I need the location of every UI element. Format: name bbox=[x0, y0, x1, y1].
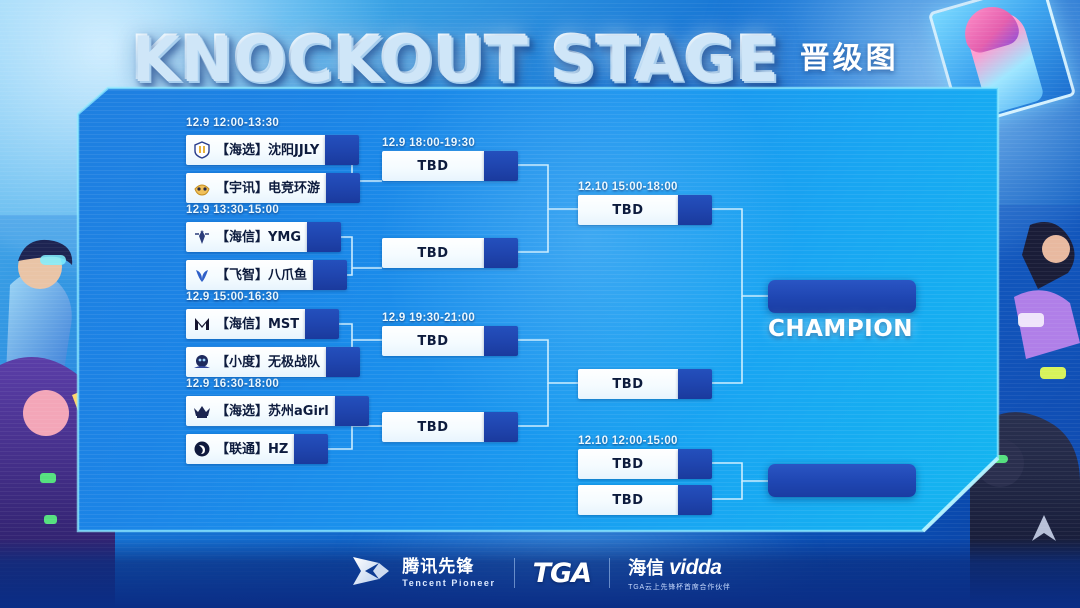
knockout-stage-poster: KNOCKOUT STAGE 晋级图 bbox=[0, 0, 1080, 608]
footer-divider bbox=[609, 558, 610, 588]
team-name: 【联通】HZ bbox=[216, 443, 288, 456]
match-slot-row[interactable]: TBD bbox=[578, 369, 712, 399]
team-name-cell: 【联通】HZ bbox=[186, 434, 294, 464]
team-name: 【海信】YMG bbox=[216, 231, 301, 244]
flydigi-v-icon bbox=[192, 265, 212, 285]
slot-name-cell: TBD bbox=[382, 412, 484, 442]
match-slot-row[interactable]: TBD bbox=[382, 238, 518, 268]
vidda-en: vidda bbox=[669, 556, 721, 580]
slot-name: TBD bbox=[417, 335, 448, 348]
bracket-connector-lines bbox=[0, 0, 1080, 608]
score-cell bbox=[325, 135, 359, 165]
score-cell bbox=[678, 449, 712, 479]
date-label-semifinal: 12.10 15:00-18:00 bbox=[578, 181, 678, 193]
score-cell bbox=[678, 369, 712, 399]
team-name: 【海选】苏州aGirl bbox=[216, 405, 329, 418]
mask-yuxun-icon bbox=[192, 178, 212, 198]
slot-name: TBD bbox=[417, 160, 448, 173]
score-cell bbox=[484, 412, 518, 442]
slot-name: TBD bbox=[612, 494, 643, 507]
slot-name-cell: TBD bbox=[578, 369, 678, 399]
vidda-cn: 海信 bbox=[628, 554, 664, 580]
agirl-crown-icon bbox=[192, 401, 212, 421]
team-row[interactable]: 【飞智】八爪鱼 bbox=[186, 260, 322, 290]
team-row[interactable]: 【小度】无极战队 bbox=[186, 347, 322, 377]
date-label-r1-m1: 12.9 12:00-13:30 bbox=[186, 117, 279, 129]
date-label-r1-m4: 12.9 16:30-18:00 bbox=[186, 378, 279, 390]
third-place-winner-block[interactable] bbox=[768, 464, 916, 497]
score-cell bbox=[326, 173, 360, 203]
slot-name: TBD bbox=[612, 204, 643, 217]
score-cell bbox=[678, 485, 712, 515]
team-name-cell: 【海选】沈阳JJLY bbox=[186, 135, 325, 165]
slot-name: TBD bbox=[417, 247, 448, 260]
tencent-pioneer-en: Tencent Pioneer bbox=[402, 578, 495, 588]
team-row[interactable]: 【海信】MST bbox=[186, 309, 322, 339]
ymg-icon: Y bbox=[192, 227, 212, 247]
score-cell bbox=[484, 326, 518, 356]
team-row[interactable]: 【联通】HZ bbox=[186, 434, 322, 464]
team-name: 【宇讯】电竞环游 bbox=[216, 182, 320, 195]
score-cell bbox=[484, 238, 518, 268]
footer-sponsors: 腾讯先锋 Tencent Pioneer TGA 海信 vidda TGA云上先… bbox=[0, 538, 1080, 608]
score-cell bbox=[307, 222, 341, 252]
team-name-cell: 【小度】无极战队 bbox=[186, 347, 326, 377]
date-label-r1-m3: 12.9 15:00-16:30 bbox=[186, 291, 279, 303]
score-cell bbox=[678, 195, 712, 225]
vidda-brand: 海信 vidda TGA云上先锋杯首席合作伙伴 bbox=[628, 554, 731, 592]
match-slot-row[interactable]: TBD bbox=[382, 151, 518, 181]
date-label-r2-m2: 12.9 19:30-21:00 bbox=[382, 312, 475, 324]
score-cell bbox=[294, 434, 328, 464]
team-name: 【小度】无极战队 bbox=[216, 356, 320, 369]
team-name-cell: Y 【海信】YMG bbox=[186, 222, 307, 252]
team-row[interactable]: 【宇讯】电竞环游 bbox=[186, 173, 322, 203]
team-row[interactable]: 【海选】沈阳JJLY bbox=[186, 135, 322, 165]
date-label-r2-m1: 12.9 18:00-19:30 bbox=[382, 137, 475, 149]
team-name-cell: 【宇讯】电竞环游 bbox=[186, 173, 326, 203]
champion-block[interactable] bbox=[768, 280, 916, 313]
tencent-pioneer-logo-icon bbox=[349, 553, 393, 594]
match-slot-row[interactable]: TBD bbox=[578, 449, 712, 479]
score-cell bbox=[305, 309, 339, 339]
tencent-pioneer-cn: 腾讯先锋 bbox=[402, 558, 495, 578]
match-slot-row[interactable]: TBD bbox=[578, 195, 712, 225]
team-name: 【飞智】八爪鱼 bbox=[216, 269, 307, 282]
team-name-cell: 【飞智】八爪鱼 bbox=[186, 260, 313, 290]
match-slot-row[interactable]: TBD bbox=[382, 326, 518, 356]
score-cell bbox=[335, 396, 369, 426]
date-label-r1-m2: 12.9 13:30-15:00 bbox=[186, 204, 279, 216]
score-cell bbox=[313, 260, 347, 290]
team-name-cell: 【海信】MST bbox=[186, 309, 305, 339]
shield-jjly-icon bbox=[192, 140, 212, 160]
slot-name: TBD bbox=[417, 421, 448, 434]
tencent-pioneer-text: 腾讯先锋 Tencent Pioneer bbox=[402, 558, 495, 588]
mst-icon bbox=[192, 314, 212, 334]
team-name: 【海信】MST bbox=[216, 318, 299, 331]
team-name: 【海选】沈阳JJLY bbox=[216, 144, 319, 157]
bracket-content: 12.9 12:00-13:30 12.9 13:30-15:00 12.9 1… bbox=[0, 0, 1080, 608]
wuji-icon bbox=[192, 352, 212, 372]
vidda-subtitle: TGA云上先锋杯首席合作伙伴 bbox=[628, 582, 731, 592]
champion-label: CHAMPION bbox=[768, 316, 913, 342]
slot-name-cell: TBD bbox=[578, 195, 678, 225]
team-row[interactable]: Y 【海信】YMG bbox=[186, 222, 322, 252]
slot-name-cell: TBD bbox=[382, 238, 484, 268]
footer-divider bbox=[514, 558, 515, 588]
match-slot-row[interactable]: TBD bbox=[382, 412, 518, 442]
slot-name-cell: TBD bbox=[382, 326, 484, 356]
score-cell bbox=[484, 151, 518, 181]
slot-name-cell: TBD bbox=[382, 151, 484, 181]
slot-name: TBD bbox=[612, 378, 643, 391]
slot-name-cell: TBD bbox=[578, 485, 678, 515]
tencent-pioneer-brand: 腾讯先锋 Tencent Pioneer bbox=[349, 553, 495, 594]
team-name-cell: 【海选】苏州aGirl bbox=[186, 396, 335, 426]
date-label-third-place: 12.10 12:00-15:00 bbox=[578, 435, 678, 447]
hz-icon bbox=[192, 439, 212, 459]
score-cell bbox=[326, 347, 360, 377]
tga-logo: TGA bbox=[533, 558, 591, 589]
slot-name: TBD bbox=[612, 458, 643, 471]
slot-name-cell: TBD bbox=[578, 449, 678, 479]
match-slot-row[interactable]: TBD bbox=[578, 485, 712, 515]
team-row[interactable]: 【海选】苏州aGirl bbox=[186, 396, 322, 426]
